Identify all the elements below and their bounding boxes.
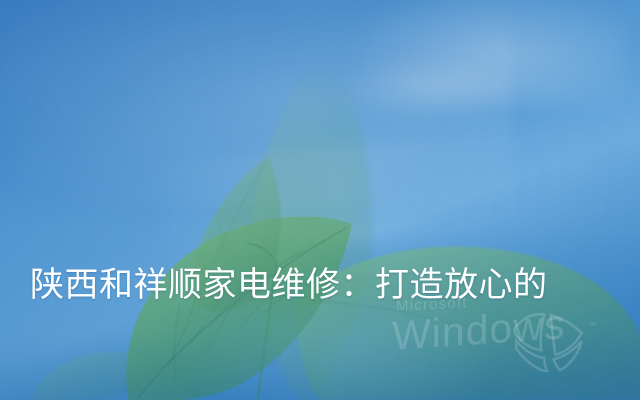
banner-image: Microsoft Windows ™ 陕西和祥顺家电维修：打造放心的 家电服务…	[0, 0, 640, 400]
banner-title-line-1: 陕西和祥顺家电维修：打造放心的	[30, 258, 620, 313]
banner-title: 陕西和祥顺家电维修：打造放心的 家电服务品牌	[30, 148, 620, 400]
